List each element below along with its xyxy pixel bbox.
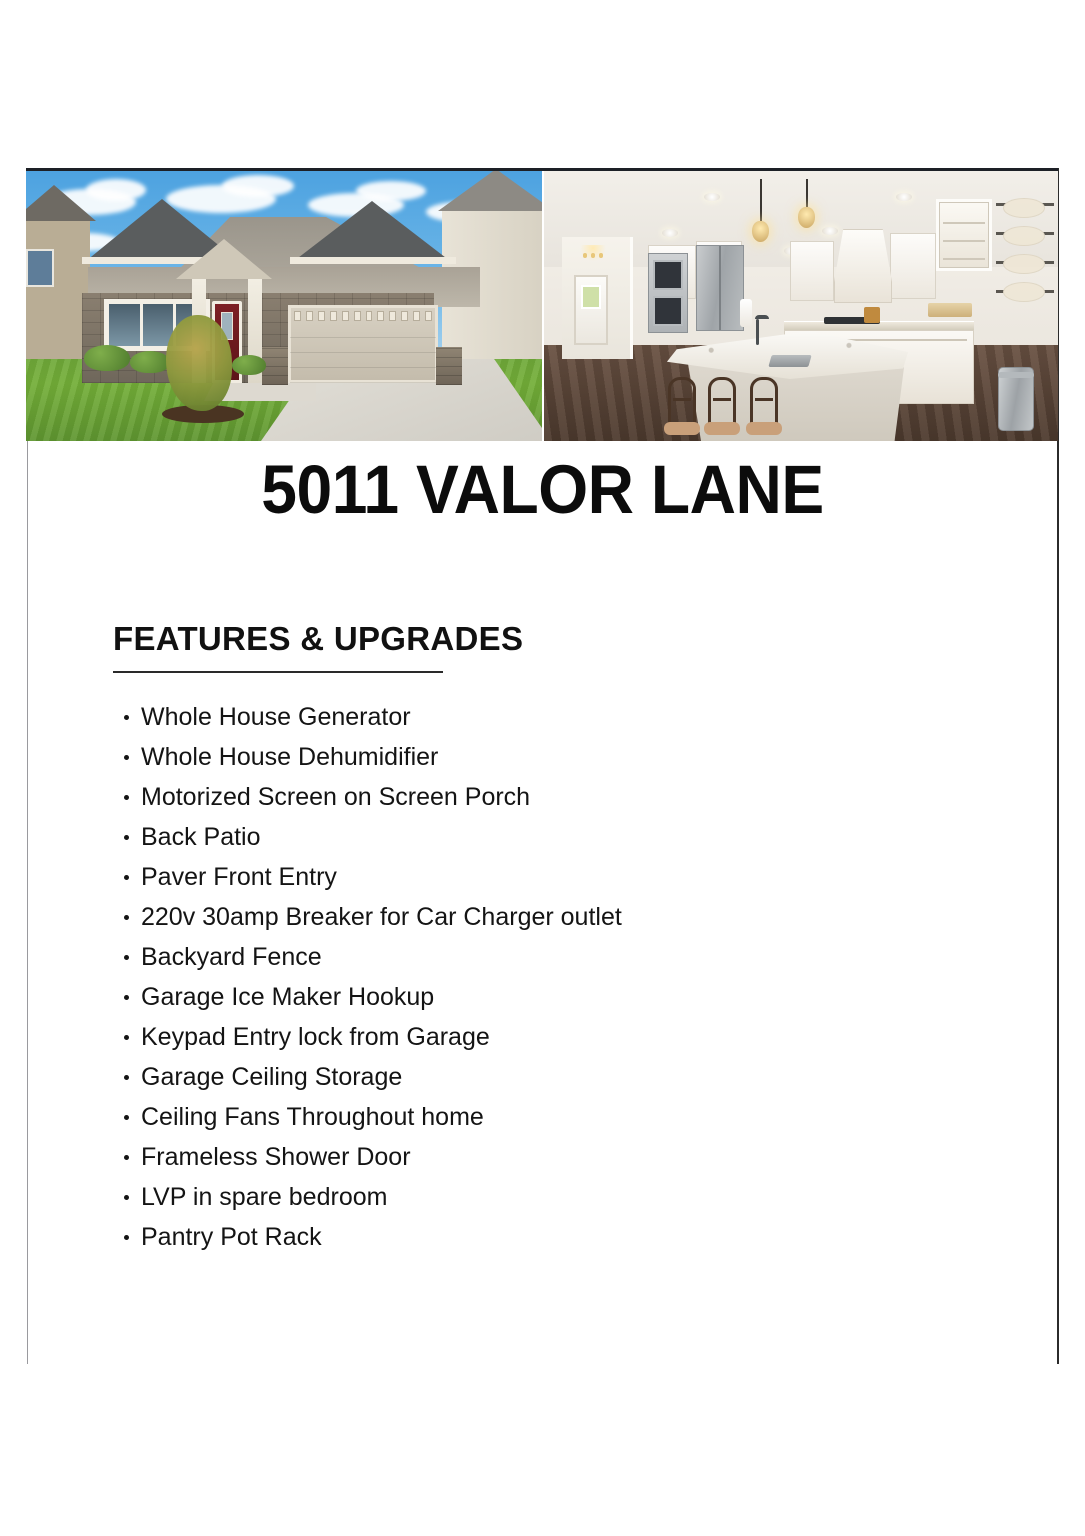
refrigerator: [696, 245, 744, 331]
home-exterior-photo: [26, 171, 542, 441]
glass-front-cabinet: [936, 199, 992, 271]
features-heading: FEATURES & UPGRADES: [113, 620, 523, 658]
list-item: Pantry Pot Rack: [141, 1217, 961, 1257]
porch-gable: [176, 239, 272, 279]
list-item: Garage Ice Maker Hookup: [141, 977, 961, 1017]
cloud-icon: [222, 175, 294, 197]
upper-cabinet: [890, 233, 936, 299]
list-item: Whole House Dehumidifier: [141, 737, 961, 777]
counter-decor: [864, 307, 880, 323]
wall-ovens: [648, 253, 688, 333]
shrub: [84, 345, 130, 371]
gable-right: [294, 201, 450, 261]
island-sink: [768, 355, 811, 367]
pendant-light-icon: [798, 207, 815, 228]
pendant-cord: [806, 179, 808, 207]
list-item: 220v 30amp Breaker for Car Charger outle…: [141, 897, 961, 937]
stainless-trash-can: [998, 367, 1034, 431]
island-faucet: [756, 319, 759, 345]
recessed-light-icon: [662, 229, 678, 237]
flyer-page: 5011 VALOR LANE FEATURES & UPGRADES Whol…: [0, 0, 1085, 1536]
recessed-light-icon: [704, 193, 720, 201]
pendant-light-icon: [752, 221, 769, 242]
wall-plate-rack: [996, 193, 1054, 319]
cloud-icon: [356, 181, 426, 201]
bar-stool: [702, 367, 742, 441]
cutting-board: [928, 303, 972, 317]
recessed-light-icon: [896, 193, 912, 201]
stone-pier: [436, 347, 462, 385]
range-hood: [834, 229, 892, 303]
list-item: Motorized Screen on Screen Porch: [141, 777, 961, 817]
garage-panel-lines: [290, 325, 436, 383]
gable-right-trim: [290, 257, 456, 264]
pendant-cord: [760, 179, 762, 221]
front-entry-door: [574, 275, 608, 345]
neighbor-house-left: [26, 219, 90, 359]
list-item: Garage Ceiling Storage: [141, 1057, 961, 1097]
features-list: Whole House Generator Whole House Dehumi…: [113, 697, 961, 1257]
list-item: Backyard Fence: [141, 937, 961, 977]
paper-towel-roll: [740, 299, 752, 327]
shrub: [232, 355, 266, 375]
page-title: 5011 VALOR LANE: [38, 455, 1047, 524]
kitchen-interior-photo: [542, 171, 1058, 441]
bar-stool: [744, 367, 784, 441]
photo-band: [26, 168, 1058, 441]
list-item: Frameless Shower Door: [141, 1137, 961, 1177]
list-item: Whole House Generator: [141, 697, 961, 737]
list-item: Back Patio: [141, 817, 961, 857]
list-item: Keypad Entry lock from Garage: [141, 1017, 961, 1057]
chandelier-icon: [580, 245, 606, 261]
list-item: Paver Front Entry: [141, 857, 961, 897]
ornamental-tree: [166, 315, 232, 411]
shrub: [130, 351, 170, 373]
upper-cabinet: [790, 241, 834, 301]
features-heading-rule: [113, 671, 443, 673]
recessed-light-icon: [822, 227, 838, 235]
bar-stool: [662, 367, 702, 441]
garage-window-row: [294, 311, 432, 321]
list-item: LVP in spare bedroom: [141, 1177, 961, 1217]
list-item: Ceiling Fans Throughout home: [141, 1097, 961, 1137]
